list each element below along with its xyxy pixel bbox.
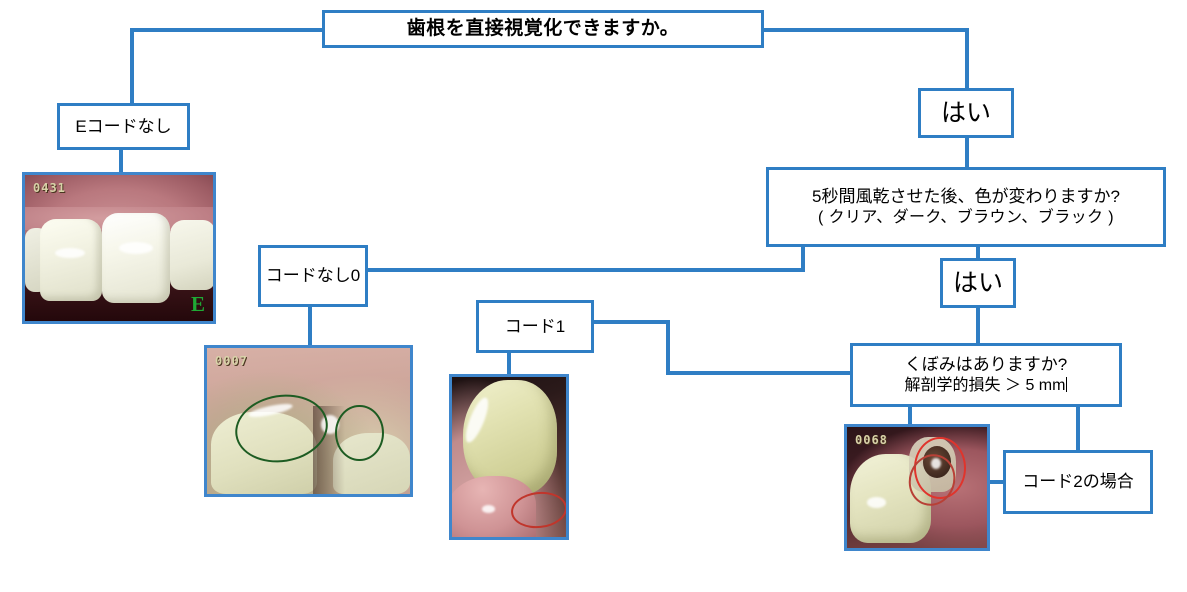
node-code-2[interactable]: コード2の場合 <box>1003 450 1153 514</box>
flowchart-canvas: 歯根を直接視覚化できますか。 Eコードなし はい 5秒間風乾させた後、色が変わり… <box>0 0 1187 592</box>
node-code-1[interactable]: コード1 <box>476 300 594 353</box>
code-1-label: コード1 <box>479 316 591 338</box>
connector-yes1-to-dry <box>965 136 969 169</box>
node-root-question[interactable]: 歯根を直接視覚化できますか。 <box>322 10 764 48</box>
cavity-question-line1: くぼみはありますか? <box>857 354 1115 376</box>
connector-ecode-to-photo1 <box>119 150 123 174</box>
connector-code1-to-cavity <box>666 371 854 375</box>
photo-anterior-healthy[interactable]: 0431 E <box>22 172 216 324</box>
photo-anterior-content <box>25 175 213 321</box>
yes-top-label: はい <box>921 97 1011 129</box>
connector-root-to-left <box>130 28 324 32</box>
dry-question-line1: 5秒間風乾させた後、色が変わりますか? <box>773 186 1159 208</box>
connector-cavity-to-code2 <box>1076 405 1080 452</box>
photo-id-label: 0068 <box>855 433 888 447</box>
specular-highlight <box>867 497 887 508</box>
node-dry-question[interactable]: 5秒間風乾させた後、色が変わりますか? ( クリア、ダーク、ブラウン、ブラック … <box>766 167 1166 247</box>
connector-yes2-to-cavity <box>976 306 980 345</box>
photo-molar-brown-margin[interactable] <box>449 374 569 540</box>
connector-cavity-to-photo4 <box>908 405 912 426</box>
tooth-shape-central-right <box>102 213 170 304</box>
node-no-e-code[interactable]: Eコードなし <box>57 103 190 150</box>
connector-code1-down <box>666 320 670 375</box>
cavity-question-text: くぼみはありますか? 解剖学的損失 ＞ 5 mm <box>853 354 1119 396</box>
connector-code1-right <box>592 320 670 324</box>
photo-corner-mark: E <box>191 292 205 317</box>
root-question-label: 歯根を直接視覚化できますか。 <box>325 17 761 41</box>
tooth-shape-central-left <box>40 219 102 301</box>
specular-highlight <box>119 242 153 254</box>
connector-root-to-right <box>762 28 969 32</box>
connector-code0-to-photo2 <box>308 305 312 347</box>
photo-occlusal-white-spot[interactable]: 0007 <box>204 345 413 497</box>
dry-question-text: 5秒間風乾させた後、色が変わりますか? ( クリア、ダーク、ブラウン、ブラック … <box>769 186 1163 228</box>
code-2-label: コード2の場合 <box>1006 471 1150 493</box>
node-code-none-0[interactable]: コードなし0 <box>258 245 368 307</box>
connector-dry-to-code0-horiz <box>366 268 805 272</box>
connector-right-down <box>965 28 969 90</box>
specular-highlight <box>482 505 496 513</box>
cavity-question-line2: 解剖学的損失 ＞ 5 mm <box>857 376 1115 396</box>
cavity-question-line2-text: 解剖学的損失 ＞ 5 mm <box>905 377 1066 394</box>
photo-id-label: 0007 <box>215 354 248 368</box>
code-none-0-label: コードなし0 <box>261 265 365 287</box>
node-yes-second[interactable]: はい <box>940 258 1016 308</box>
annotation-ellipse-green-small <box>335 405 384 462</box>
photo-molar-cavitation[interactable]: 0068 <box>844 424 990 551</box>
node-yes-top[interactable]: はい <box>918 88 1014 138</box>
tooth-shape-lateral-right <box>170 220 213 290</box>
yes-second-label: はい <box>943 267 1013 299</box>
connector-left-down <box>130 28 134 105</box>
connector-code1-to-photo3 <box>507 351 511 376</box>
text-cursor <box>1066 377 1067 392</box>
no-e-code-label: Eコードなし <box>60 116 187 138</box>
connector-dry-to-code0-vert <box>801 245 805 270</box>
node-cavity-question[interactable]: くぼみはありますか? 解剖学的損失 ＞ 5 mm <box>850 343 1122 407</box>
dry-question-line2: ( クリア、ダーク、ブラウン、ブラック ) <box>773 208 1159 228</box>
photo-id-label: 0431 <box>33 181 66 195</box>
